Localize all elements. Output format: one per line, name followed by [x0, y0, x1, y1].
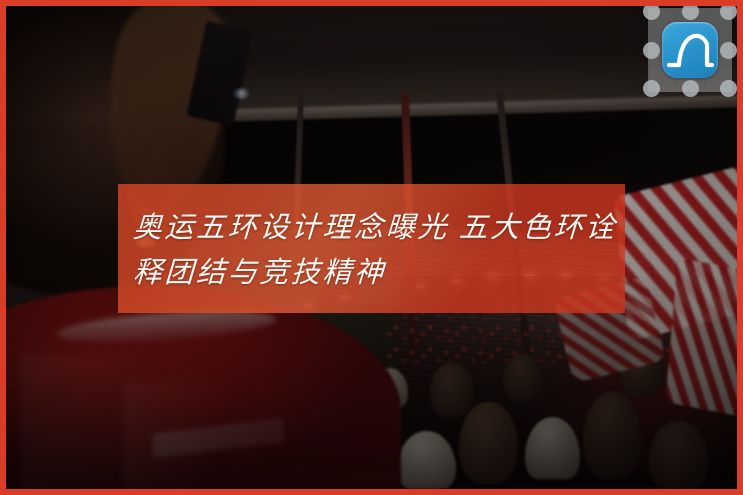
- crowd-head: [459, 402, 517, 484]
- striped-flag: [666, 257, 737, 421]
- phone-screen-glint: [233, 88, 251, 99]
- logo-corner-dot: [643, 42, 660, 59]
- article-title-line-2: 释团结与竞技精神: [132, 251, 608, 296]
- logo-corner-dot: [682, 3, 699, 20]
- wireshark-icon[interactable]: [662, 22, 718, 78]
- crowd-head: [649, 421, 707, 489]
- title-overlay-band: 奥运五环设计理念曝光 五大色环诠 释团结与竞技精神: [118, 184, 625, 313]
- logo-corner-dot: [720, 3, 737, 20]
- logo-corner-dot: [643, 80, 660, 97]
- article-hero-image: 奥运五环设计理念曝光 五大色环诠 释团结与竞技精神: [0, 0, 743, 495]
- wireshark-logo[interactable]: [648, 8, 732, 92]
- crowd-head: [503, 354, 543, 402]
- crowd-head: [583, 392, 641, 479]
- article-title: 奥运五环设计理念曝光 五大色环诠 释团结与竞技精神: [118, 184, 625, 313]
- logo-corner-dot: [682, 80, 699, 97]
- logo-corner-dot: [720, 42, 737, 59]
- logo-corner-dot: [643, 3, 660, 20]
- crowd-head: [430, 363, 474, 416]
- article-title-line-1: 奥运五环设计理念曝光 五大色环诠: [132, 206, 608, 251]
- logo-corner-dot: [720, 80, 737, 97]
